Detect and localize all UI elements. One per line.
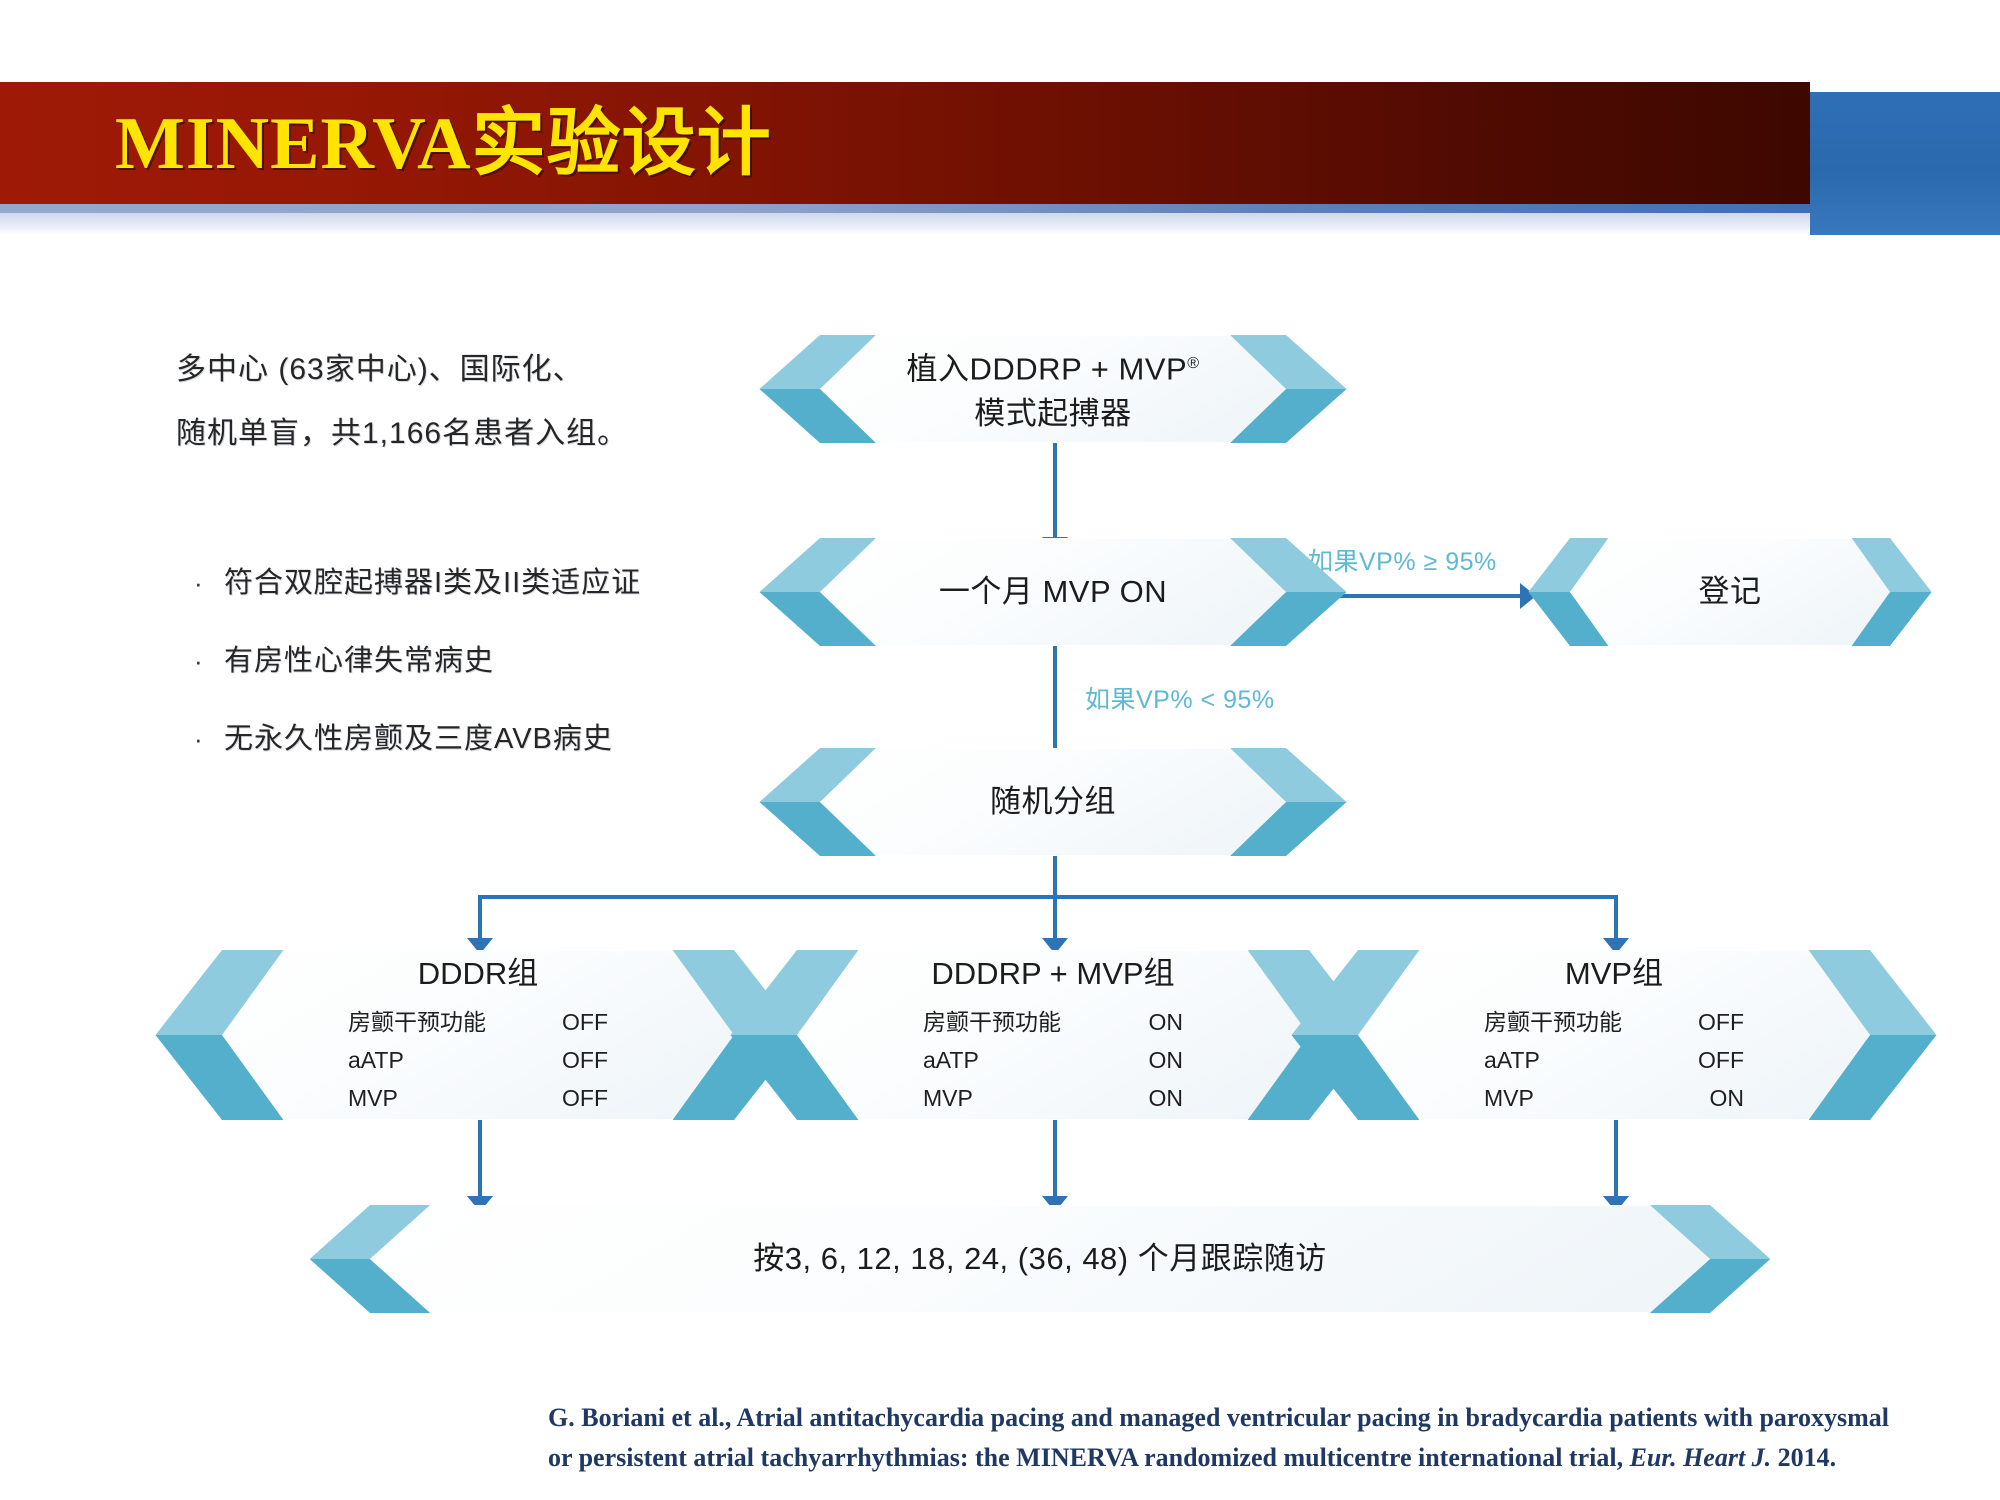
table-row: aATP OFF (1484, 1041, 1744, 1079)
criteria-text: 符合双腔起搏器I类及II类适应证 (224, 562, 641, 604)
table-row: 房颤干预功能 OFF (1484, 1003, 1744, 1041)
header-accent-panel (1806, 92, 2000, 235)
citation-journal: Eur. Heart J. (1630, 1443, 1772, 1472)
param-name: aATP (923, 1041, 979, 1079)
table-row: MVP ON (923, 1079, 1183, 1117)
header-underline-stripe (0, 204, 1810, 213)
param-name: aATP (348, 1041, 404, 1079)
param-name: aATP (1484, 1041, 1540, 1079)
randomize-label: 随机分组 (990, 780, 1116, 824)
connector-onemonth-to-randomize (1053, 645, 1057, 755)
page-title: MINERVA实验设计 (115, 85, 772, 203)
bullet-icon: · (186, 562, 224, 604)
slide-header: MINERVA实验设计 (0, 0, 2000, 270)
intro-line-2: 随机单盲，共1,166名患者入组。 (176, 402, 696, 466)
param-value: OFF (538, 1003, 608, 1041)
param-name: 房颤干预功能 (1484, 1003, 1622, 1041)
intro-text-block: 多中心 (63家中心)、国际化、 随机单盲，共1,166名患者入组。 (176, 338, 696, 466)
bullet-icon: · (186, 718, 224, 760)
criteria-text: 无永久性房颤及三度AVB病史 (224, 718, 613, 760)
list-item: · 无永久性房颤及三度AVB病史 (186, 718, 806, 760)
connector-group2-to-followup (1053, 1118, 1057, 1203)
connector-group-bus (478, 895, 1618, 899)
table-row: 房颤干预功能 OFF (348, 1003, 608, 1041)
group-title: MVP组 (1565, 953, 1663, 995)
param-name: MVP (1484, 1079, 1534, 1117)
param-value: OFF (538, 1041, 608, 1079)
flow-node-group-mvp[interactable]: MVP组 房颤干预功能 OFF aATP OFF MVP ON (1358, 950, 1870, 1120)
registered-mark-icon: ® (1187, 355, 1199, 372)
group-title: DDDR组 (418, 953, 539, 995)
connector-group1-to-followup (478, 1118, 482, 1203)
citation-text: G. Boriani et al., Atrial antitachycardi… (548, 1398, 1908, 1478)
connector-implant-to-onemonth (1053, 443, 1057, 543)
param-value: OFF (1674, 1041, 1744, 1079)
connector-randomize-stem (1053, 855, 1057, 897)
bullet-icon: · (186, 640, 224, 682)
param-value: ON (1113, 1079, 1183, 1117)
flow-node-group-dddrp-mvp[interactable]: DDDRP + MVP组 房颤干预功能 ON aATP ON MVP ON (797, 950, 1309, 1120)
flow-node-followup[interactable]: 按3, 6, 12, 18, 24, (36, 48) 个月跟踪随访 (370, 1205, 1710, 1313)
group-title: DDDRP + MVP组 (931, 953, 1174, 995)
group-parameter-table: 房颤干预功能 OFF aATP OFF MVP OFF (348, 1003, 608, 1117)
criteria-text: 有房性心律失常病史 (224, 640, 494, 682)
one-month-label: 一个月 MVP ON (939, 570, 1167, 614)
node-label: 登记 (1570, 538, 1890, 646)
condition-label-vp-low: 如果VP% < 95% (1085, 680, 1275, 716)
node-label: 植入DDDRP + MVP® 模式起搏器 (820, 335, 1286, 443)
param-value: ON (1113, 1003, 1183, 1041)
flow-node-group-dddr[interactable]: DDDR组 房颤干预功能 OFF aATP OFF MVP OFF (222, 950, 734, 1120)
node-label: DDDR组 房颤干预功能 OFF aATP OFF MVP OFF (222, 950, 734, 1120)
enroll-label: 登记 (1699, 570, 1762, 614)
node-label: 按3, 6, 12, 18, 24, (36, 48) 个月跟踪随访 (370, 1205, 1710, 1313)
param-name: 房颤干预功能 (923, 1003, 1061, 1041)
followup-label: 按3, 6, 12, 18, 24, (36, 48) 个月跟踪随访 (753, 1237, 1327, 1281)
list-item: · 符合双腔起搏器I类及II类适应证 (186, 562, 806, 604)
citation-part-3: 2014. (1771, 1443, 1836, 1472)
table-row: MVP OFF (348, 1079, 608, 1117)
table-row: aATP OFF (348, 1041, 608, 1079)
implant-line-2: 模式起搏器 (974, 392, 1132, 436)
list-item: · 有房性心律失常病史 (186, 640, 806, 682)
node-label: 一个月 MVP ON (820, 538, 1286, 646)
param-value: ON (1674, 1079, 1744, 1117)
flow-node-one-month-mvp-on[interactable]: 一个月 MVP ON (820, 538, 1286, 646)
flow-node-implant[interactable]: 植入DDDRP + MVP® 模式起搏器 (820, 335, 1286, 443)
node-label: MVP组 房颤干预功能 OFF aATP OFF MVP ON (1358, 950, 1870, 1120)
param-name: MVP (923, 1079, 973, 1117)
param-value: OFF (1674, 1003, 1744, 1041)
flow-node-randomize[interactable]: 随机分组 (820, 748, 1286, 856)
implant-line-1: 植入DDDRP + MVP® (907, 342, 1200, 391)
param-name: MVP (348, 1079, 398, 1117)
table-row: 房颤干预功能 ON (923, 1003, 1183, 1041)
param-name: 房颤干预功能 (348, 1003, 486, 1041)
group-parameter-table: 房颤干预功能 ON aATP ON MVP ON (923, 1003, 1183, 1117)
inclusion-criteria-list: · 符合双腔起搏器I类及II类适应证 · 有房性心律失常病史 · 无永久性房颤及… (186, 562, 806, 796)
connector-group3-to-followup (1614, 1118, 1618, 1203)
group-parameter-table: 房颤干预功能 OFF aATP OFF MVP ON (1484, 1003, 1744, 1117)
table-row: aATP ON (923, 1041, 1183, 1079)
param-value: ON (1113, 1041, 1183, 1079)
header-underline-fade (0, 213, 1810, 235)
table-row: MVP ON (1484, 1079, 1744, 1117)
node-label: DDDRP + MVP组 房颤干预功能 ON aATP ON MVP ON (797, 950, 1309, 1120)
param-value: OFF (538, 1079, 608, 1117)
flow-node-enroll[interactable]: 登记 (1570, 538, 1890, 646)
intro-line-1: 多中心 (63家中心)、国际化、 (176, 338, 696, 402)
node-label: 随机分组 (820, 748, 1286, 856)
